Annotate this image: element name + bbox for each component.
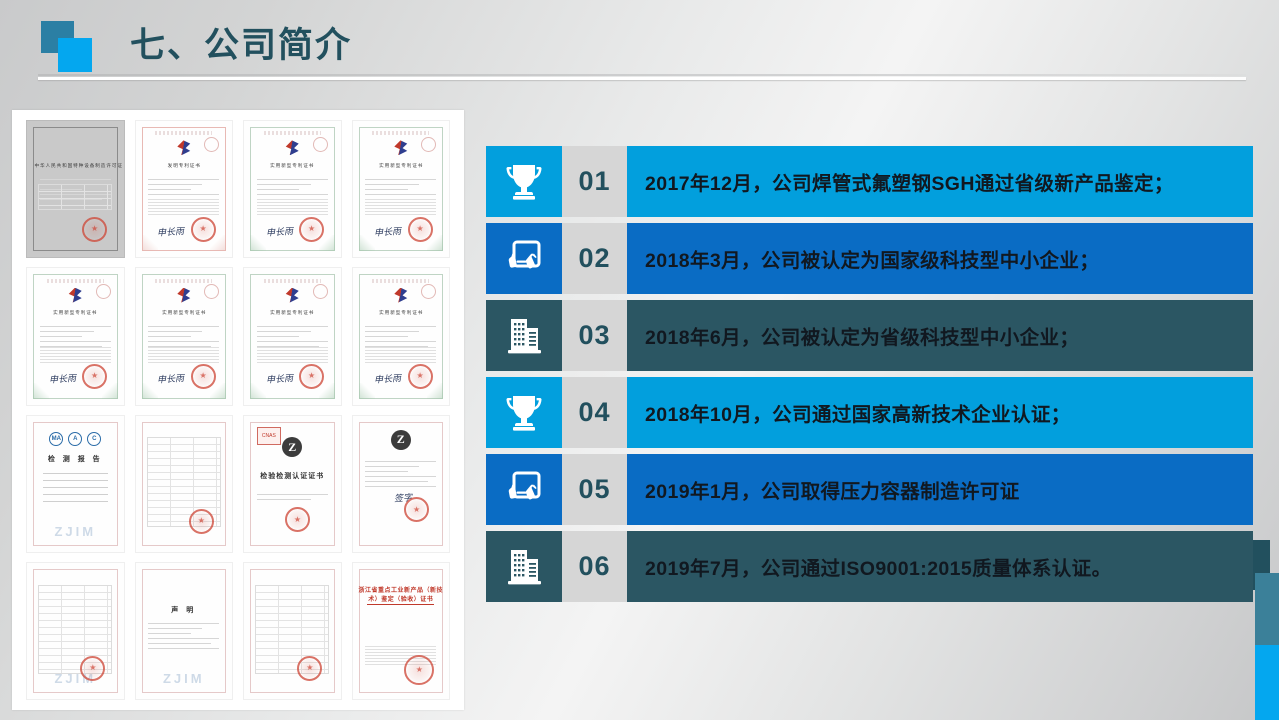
edge-decoration-mid-icon xyxy=(1255,573,1279,645)
signature: 申长雨 xyxy=(374,224,402,239)
milestone-row[interactable]: 012017年12月，公司焊管式氟塑钢SGH通过省级新产品鉴定； xyxy=(486,146,1253,217)
z-mark-icon: Z xyxy=(282,437,302,457)
header-divider-shadow xyxy=(38,74,1246,76)
signature: 申长雨 xyxy=(374,371,402,386)
milestone-text: 2018年3月，公司被认定为国家级科技型中小企业； xyxy=(627,223,1253,294)
milestone-number: 05 xyxy=(562,454,627,525)
trophy-icon xyxy=(486,377,562,448)
cal-badge-icon: A xyxy=(68,432,82,446)
certificate-thumbnail[interactable]: 实用新型专利证书申长雨 xyxy=(135,267,234,405)
tablet-hands-icon xyxy=(486,454,562,525)
certificate-title: 实用新型专利证书 xyxy=(143,310,224,316)
certificate-thumbnail[interactable]: 声 明ZJIM xyxy=(135,562,234,700)
top-stamp-icon xyxy=(313,284,328,299)
milestone-text: 2017年12月，公司焊管式氟塑钢SGH通过省级新产品鉴定； xyxy=(627,146,1253,217)
signature: 申长雨 xyxy=(157,371,185,386)
certificate-thumbnail[interactable]: Z签字 xyxy=(352,415,451,553)
cma-badge-icon: MA xyxy=(49,432,63,446)
milestone-number: 06 xyxy=(562,531,627,602)
milestone-text: 2019年7月，公司通过ISO9001:2015质量体系认证。 xyxy=(627,531,1253,602)
milestone-list: 012017年12月，公司焊管式氟塑钢SGH通过省级新产品鉴定；022018年3… xyxy=(486,146,1253,608)
top-stamp-icon xyxy=(96,284,111,299)
slide-canvas: 七、公司简介 中华人民共和国特种设备制造许可证发明专利证书申长雨实用新型专利证书… xyxy=(0,0,1279,720)
certificate-title: 检 测 报 告 xyxy=(31,454,120,464)
trophy-icon xyxy=(486,146,562,217)
milestone-row[interactable]: 06 2019年7月，公司通过ISO9001:2015质量体系认证。 xyxy=(486,531,1253,602)
certificate-thumbnail[interactable]: 实用新型专利证书申长雨 xyxy=(352,120,451,258)
certificate-title: 实用新型专利证书 xyxy=(252,310,333,316)
certificate-thumbnail[interactable]: 实用新型专利证书申长雨 xyxy=(352,267,451,405)
page-title: 七、公司简介 xyxy=(130,17,352,68)
certificate-thumbnail[interactable]: 实用新型专利证书申长雨 xyxy=(243,267,342,405)
signature: 申长雨 xyxy=(265,371,293,386)
top-stamp-icon xyxy=(421,284,436,299)
top-stamp-icon xyxy=(204,284,219,299)
signature: 申长雨 xyxy=(157,224,185,239)
certificate-thumbnail[interactable] xyxy=(243,562,342,700)
certificate-title: 实用新型专利证书 xyxy=(35,310,116,316)
milestone-row[interactable]: 052019年1月，公司取得压力容器制造许可证 xyxy=(486,454,1253,525)
certificate-thumbnail[interactable]: 发明专利证书申长雨 xyxy=(135,120,234,258)
red-seal-icon xyxy=(189,509,214,534)
cnas-badge-icon: C xyxy=(87,432,101,446)
milestone-row[interactable]: 032018年6月，公司被认定为省级科技型中小企业； xyxy=(486,300,1253,371)
milestone-text: 2018年6月，公司被认定为省级科技型中小企业； xyxy=(627,300,1253,371)
certificate-thumbnail[interactable]: CNASZ检验检测认证证书 xyxy=(243,415,342,553)
certificate-title: 发明专利证书 xyxy=(143,162,224,168)
header-square-light-icon xyxy=(58,38,92,72)
certificate-grid: 中华人民共和国特种设备制造许可证发明专利证书申长雨实用新型专利证书申长雨实用新型… xyxy=(26,120,450,700)
building-icon xyxy=(486,531,562,602)
certificate-title: 实用新型专利证书 xyxy=(252,162,333,168)
milestone-text: 2019年1月，公司取得压力容器制造许可证 xyxy=(627,454,1253,525)
certificate-title: 中华人民共和国特种设备制造许可证 xyxy=(35,162,116,168)
certificate-thumbnail[interactable]: 中华人民共和国特种设备制造许可证 xyxy=(26,120,125,258)
milestone-number: 02 xyxy=(562,223,627,294)
header-divider xyxy=(38,77,1246,80)
milestone-number: 03 xyxy=(562,300,627,371)
edge-decoration-blue-icon xyxy=(1255,645,1279,720)
watermark: ZJIM xyxy=(163,671,205,686)
certificate-title: 实用新型专利证书 xyxy=(360,162,441,168)
signature: 申长雨 xyxy=(265,224,293,239)
tablet-hands-icon xyxy=(486,223,562,294)
certificate-thumbnail[interactable] xyxy=(135,415,234,553)
red-seal-icon xyxy=(404,655,434,685)
signature: 申长雨 xyxy=(48,371,76,386)
certificate-gallery-panel: 中华人民共和国特种设备制造许可证发明专利证书申长雨实用新型专利证书申长雨实用新型… xyxy=(12,110,464,710)
milestone-row[interactable]: 022018年3月，公司被认定为国家级科技型中小企业； xyxy=(486,223,1253,294)
building-icon xyxy=(486,300,562,371)
certificate-thumbnail[interactable]: MAAC检 测 报 告ZJIM xyxy=(26,415,125,553)
milestone-number: 01 xyxy=(562,146,627,217)
certificate-title: 声 明 xyxy=(140,605,229,615)
red-seal-icon xyxy=(82,217,107,242)
milestone-row[interactable]: 042018年10月，公司通过国家高新技术企业认证； xyxy=(486,377,1253,448)
top-stamp-icon xyxy=(313,137,328,152)
certificate-thumbnail[interactable]: ZJIM xyxy=(26,562,125,700)
cnas-logo-icon: CNAS xyxy=(257,427,281,445)
top-stamp-icon xyxy=(421,137,436,152)
top-stamp-icon xyxy=(204,137,219,152)
certificate-title: 检验检测认证证书 xyxy=(248,471,337,481)
certificate-thumbnail[interactable]: 实用新型专利证书申长雨 xyxy=(26,267,125,405)
milestone-number: 04 xyxy=(562,377,627,448)
watermark: ZJIM xyxy=(54,524,96,539)
certificate-title: 实用新型专利证书 xyxy=(360,310,441,316)
certificate-thumbnail[interactable]: 浙江省重点工业新产品（新技术）鉴定（验收）证书 xyxy=(352,562,451,700)
certificate-title: 浙江省重点工业新产品（新技术）鉴定（验收）证书 xyxy=(357,585,446,603)
certificate-thumbnail[interactable]: 实用新型专利证书申长雨 xyxy=(243,120,342,258)
milestone-text: 2018年10月，公司通过国家高新技术企业认证； xyxy=(627,377,1253,448)
